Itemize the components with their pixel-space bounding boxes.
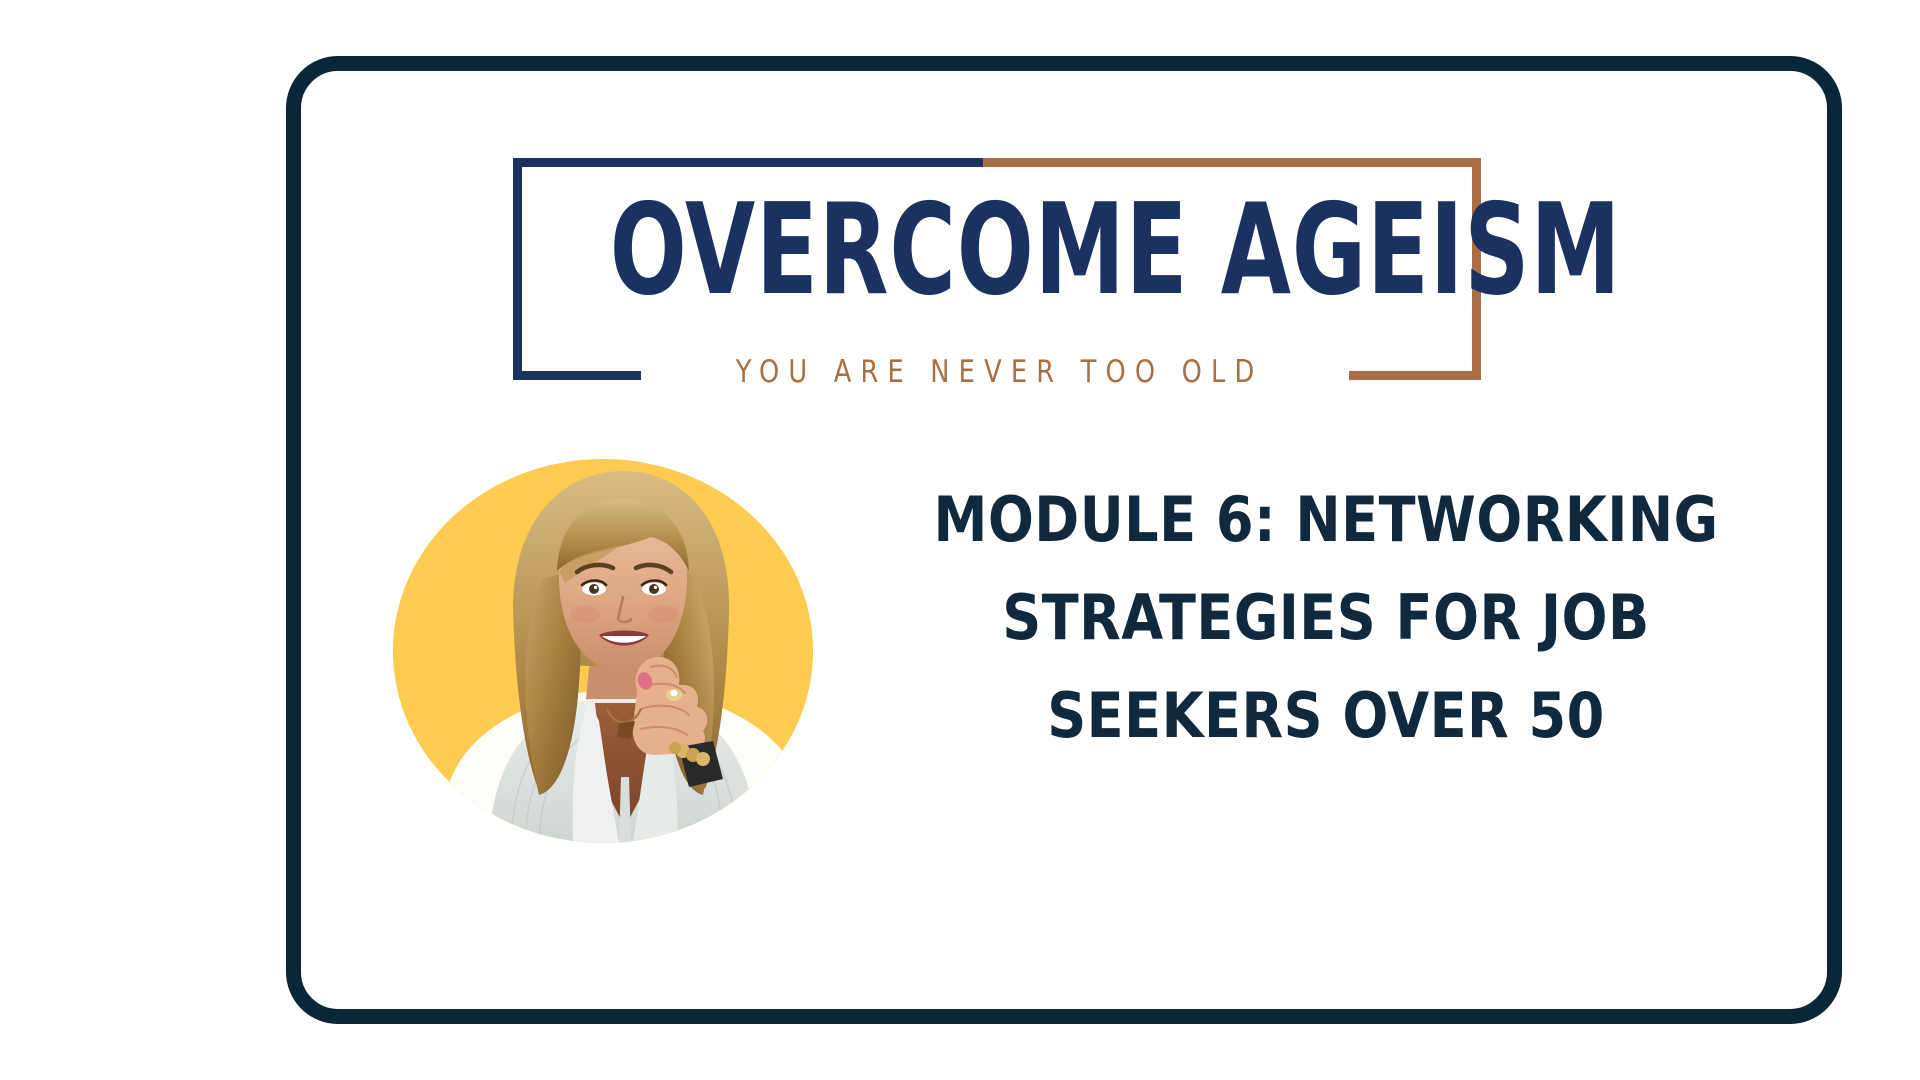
- slide-title-line-1: MODULE 6: NETWORKING: [875, 471, 1777, 569]
- logo-frame-left-navy-rule: [513, 158, 522, 380]
- brand-logo-lockup: OVERCOME AGEISM YOU ARE NEVER TOO OLD: [513, 158, 1481, 380]
- slide-body: MODULE 6: NETWORKING STRATEGIES FOR JOB …: [301, 431, 1827, 871]
- presenter-portrait: [393, 459, 813, 843]
- logo-frame-bottom-navy-rule: [513, 371, 641, 380]
- slide-card: OVERCOME AGEISM YOU ARE NEVER TOO OLD: [286, 56, 1842, 1024]
- portrait-yellow-disc: [393, 459, 813, 843]
- slide-title: MODULE 6: NETWORKING STRATEGIES FOR JOB …: [875, 471, 1777, 765]
- logo-tagline: YOU ARE NEVER TOO OLD: [669, 354, 1320, 390]
- logo-wordmark: OVERCOME AGEISM: [610, 164, 1384, 336]
- slide-title-line-2: STRATEGIES FOR JOB: [875, 569, 1777, 667]
- portrait-photo: [393, 459, 813, 843]
- logo-frame-bottom-copper-rule: [1349, 371, 1481, 380]
- slide-title-line-3: SEEKERS OVER 50: [875, 667, 1777, 765]
